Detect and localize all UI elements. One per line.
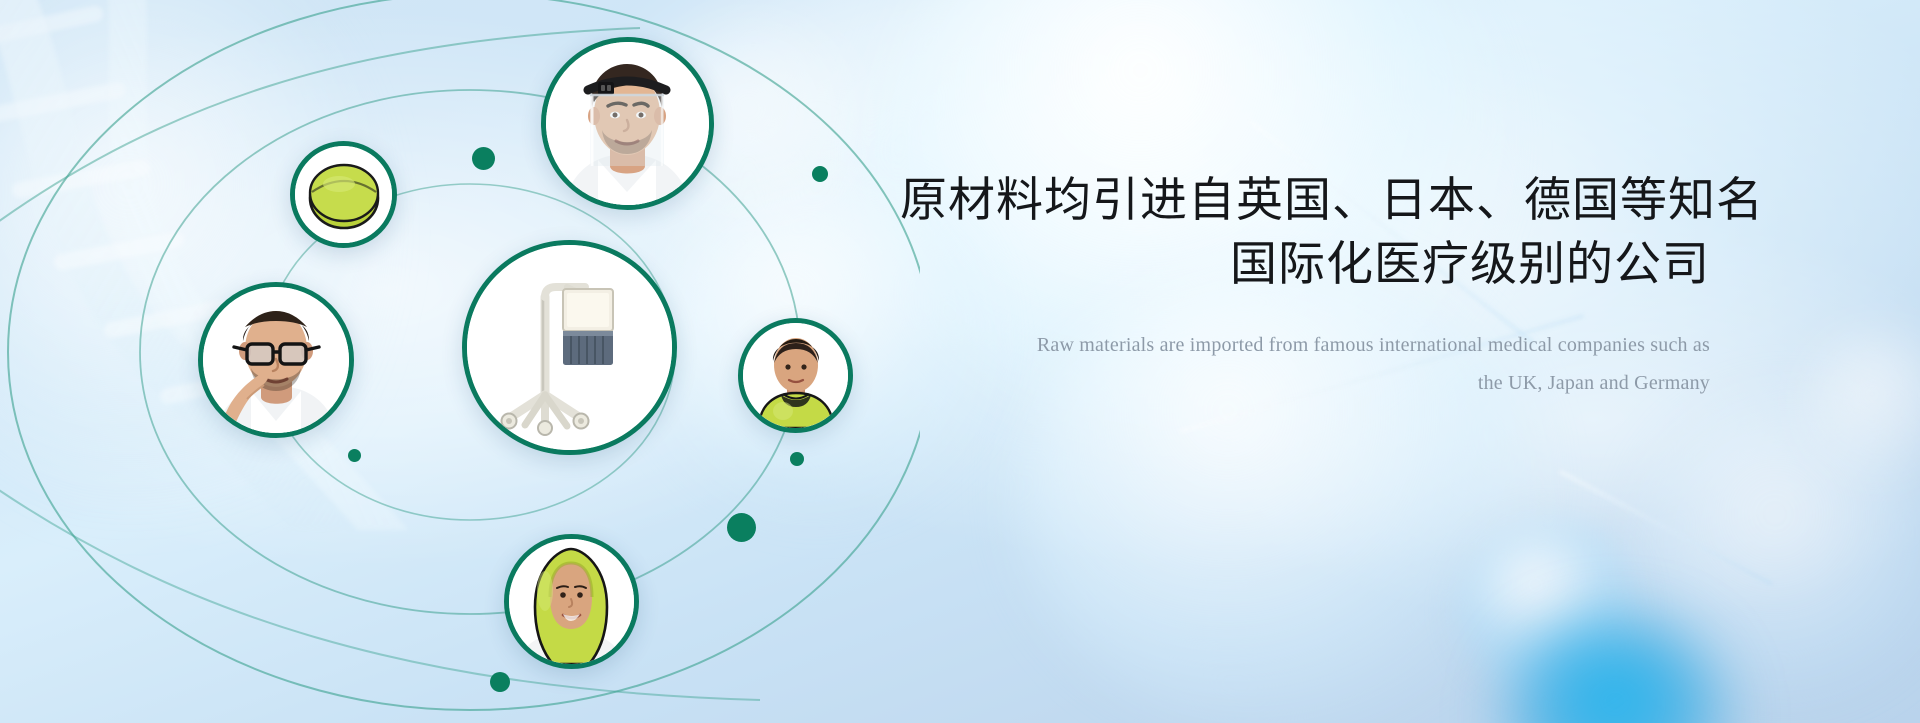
dna-helix-graphic <box>0 0 440 530</box>
headline-line-1: 原材料均引进自英国、日本、德国等知名 <box>900 168 1710 232</box>
man-with-radiation-glasses-icon <box>203 287 349 433</box>
bg-glow-left <box>0 0 360 520</box>
bubble-lime-thyroid-collar[interactable] <box>290 141 397 248</box>
bg-molecule-sphere-lower-right <box>1460 520 1640 700</box>
hero-banner: 原材料均引进自英国、日本、德国等知名 国际化医疗级别的公司 Raw materi… <box>0 0 1920 723</box>
woman-with-protective-hood-icon <box>509 539 634 664</box>
orbit-dot-top <box>472 147 495 170</box>
bg-cyan-sphere <box>1500 620 1730 723</box>
orbit-dot-bottom <box>490 672 510 692</box>
bubble-woman-with-thyroid-cape[interactable] <box>738 318 853 433</box>
bubble-doctor-with-head-shield[interactable] <box>541 37 714 210</box>
orbit-dot-mid-right <box>790 452 804 466</box>
bg-molecule-sphere-right <box>1640 400 1920 700</box>
bubble-mobile-xray-shield-stand[interactable] <box>462 240 677 455</box>
bubble-man-with-radiation-glasses[interactable] <box>198 282 354 438</box>
headline-block: 原材料均引进自英国、日本、德国等知名 国际化医疗级别的公司 Raw materi… <box>900 168 1710 402</box>
woman-with-thyroid-cape-icon <box>743 323 848 428</box>
subtitle-line-2: the UK, Japan and Germany <box>900 364 1710 402</box>
subtitle-block: Raw materials are imported from famous i… <box>900 326 1710 402</box>
headline-line-2: 国际化医疗级别的公司 <box>900 232 1710 296</box>
orbit-dot-left <box>348 449 361 462</box>
mobile-xray-shield-stand-icon <box>467 245 672 450</box>
subtitle-line-1: Raw materials are imported from famous i… <box>900 326 1710 364</box>
lime-thyroid-collar-icon <box>295 146 392 243</box>
bubble-woman-with-protective-hood[interactable] <box>504 534 639 669</box>
orbit-dot-upper-right <box>812 166 828 182</box>
orbit-dot-large-center <box>727 513 756 542</box>
bg-glow-far-right <box>1800 330 1920 490</box>
doctor-with-head-shield-icon <box>546 42 709 205</box>
bg-molecule-bond-c <box>1559 470 1772 585</box>
